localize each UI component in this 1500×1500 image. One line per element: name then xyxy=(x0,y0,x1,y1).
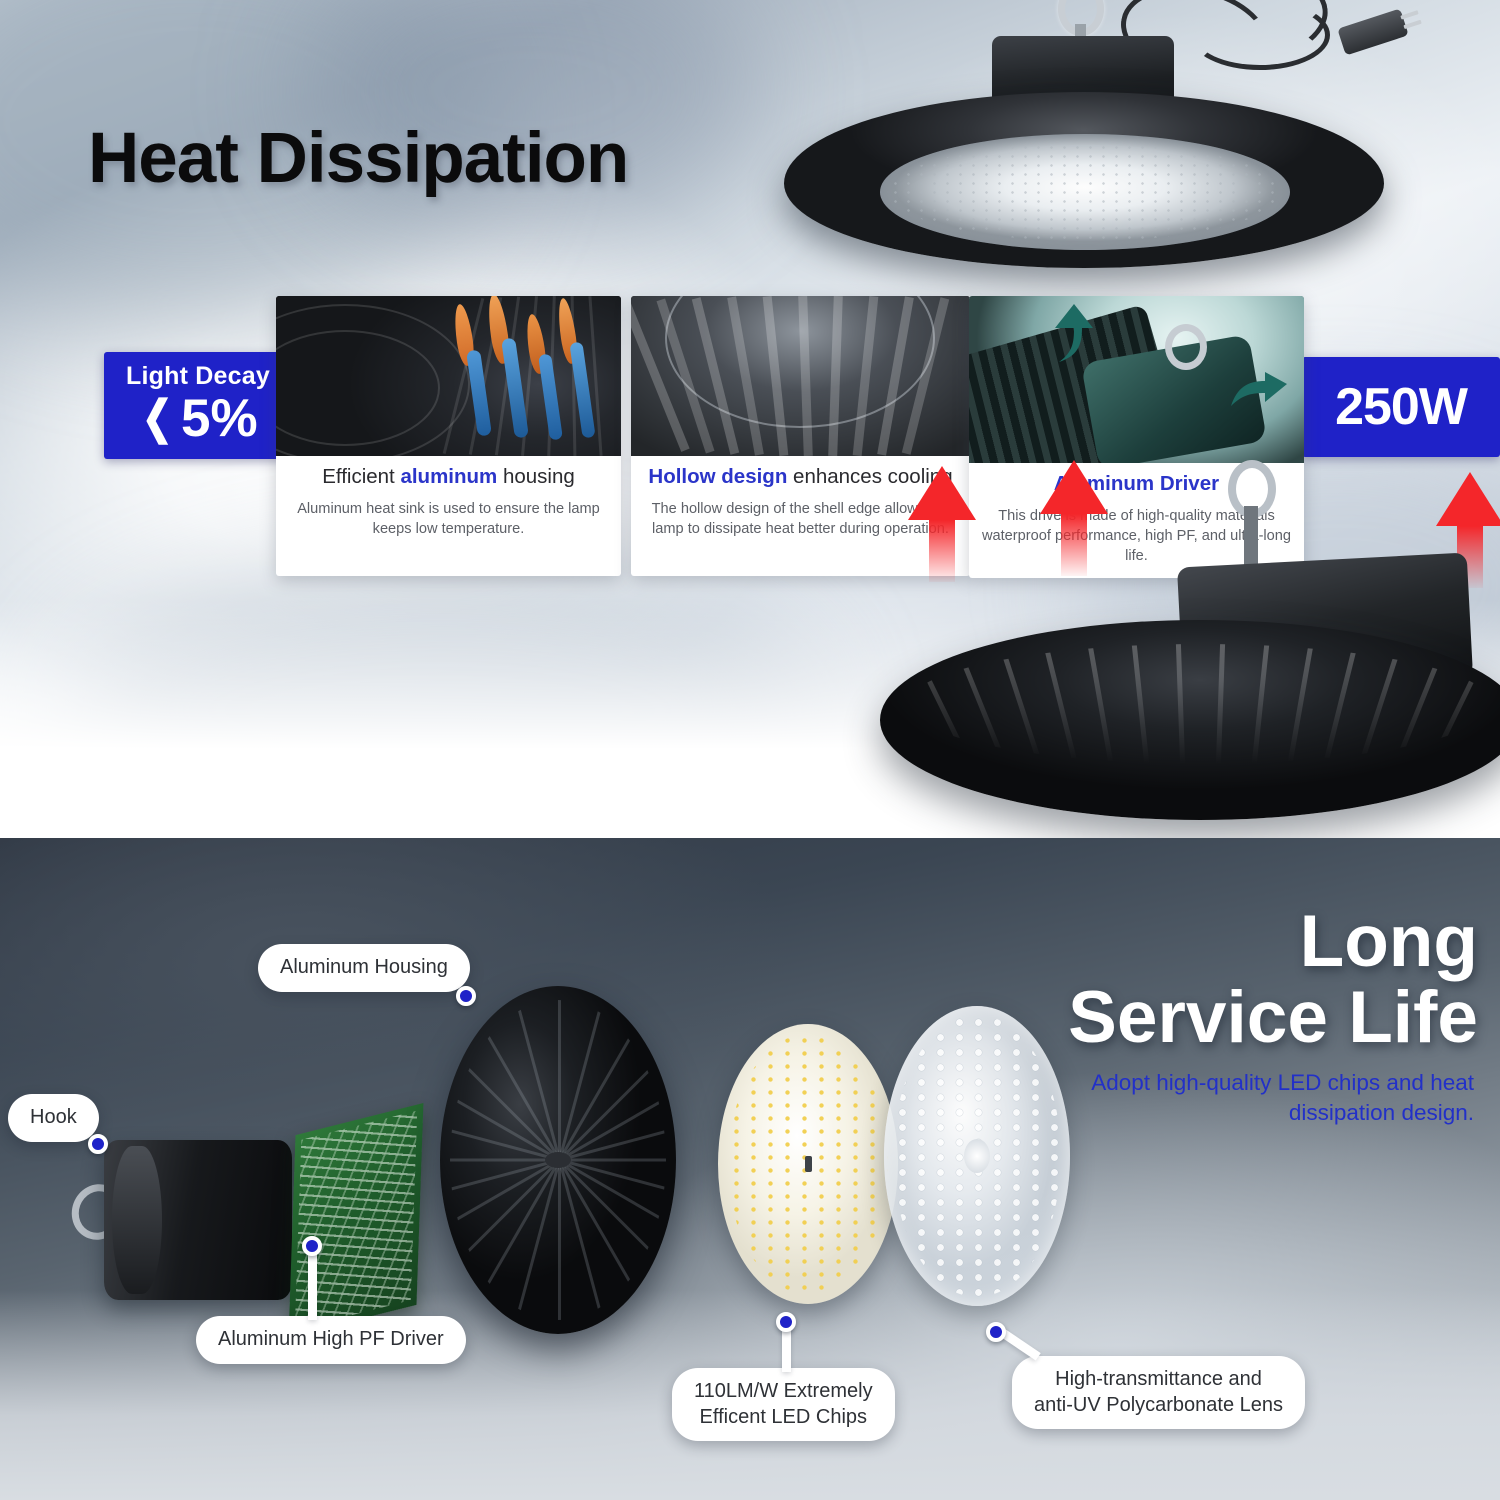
hero-highbay-light-image xyxy=(760,0,1400,294)
feature-card-image xyxy=(631,296,970,456)
callout-label: High-transmittance and anti-UV Polycarbo… xyxy=(1012,1356,1305,1429)
bottom-subtitle: Adopt high-quality LED chips and heat di… xyxy=(1004,1068,1474,1127)
callout-led-chips: 110LM/W Extremely Efficent LED Chips xyxy=(672,1368,895,1441)
led-chip-board-component xyxy=(718,1024,898,1304)
aluminum-housing-component xyxy=(440,986,676,1334)
callout-label: Aluminum Housing xyxy=(258,944,470,992)
feature-card-caption: Efficient aluminum housing Aluminum heat… xyxy=(276,456,621,576)
power-plug-icon xyxy=(1337,8,1408,55)
callout-label: Aluminum High PF Driver xyxy=(196,1316,466,1364)
hook-stem xyxy=(1244,506,1258,566)
callout-dot-icon xyxy=(456,986,476,1006)
callout-stem xyxy=(308,1246,317,1320)
heat-arrow-icon xyxy=(1040,460,1108,576)
callout-dot-icon xyxy=(88,1134,108,1154)
callout-aluminum-high-pf-driver: Aluminum High PF Driver xyxy=(196,1316,466,1364)
heatsink-fins xyxy=(908,644,1492,764)
airflow-arrow-icon xyxy=(1051,302,1097,364)
light-decay-value: ❮ 5% xyxy=(138,392,257,446)
heat-flow-product-image xyxy=(880,452,1500,838)
feature-card-body: Aluminum heat sink is used to ensure the… xyxy=(288,499,609,539)
driver-cap-component xyxy=(104,1140,292,1300)
product-infographic: Heat Dissipation Light Decay ❮ 5% 250W xyxy=(0,0,1500,1500)
less-than-chevron-icon: ❮ xyxy=(142,394,173,441)
feature-card-aluminum-housing: Efficient aluminum housing Aluminum heat… xyxy=(276,296,621,576)
power-cord xyxy=(1190,0,1330,70)
bottom-page-title: Long Service Life xyxy=(1008,906,1478,1053)
wattage-value: 250W xyxy=(1335,377,1467,437)
bottom-title-line2: Service Life xyxy=(1008,982,1478,1054)
bottom-title-line1: Long xyxy=(1008,906,1478,978)
callout-dot-icon xyxy=(776,1312,796,1332)
callout-dot-icon xyxy=(986,1322,1006,1342)
hook-ring-icon xyxy=(1165,324,1207,370)
page-title: Heat Dissipation xyxy=(88,118,628,199)
wattage-badge: 250W xyxy=(1302,357,1500,457)
feature-card-image xyxy=(969,296,1304,463)
callout-polycarbonate-lens: High-transmittance and anti-UV Polycarbo… xyxy=(1012,1356,1305,1429)
heat-arrow-icon xyxy=(908,466,976,582)
light-decay-number: 5% xyxy=(181,392,258,446)
callout-label: Hook xyxy=(8,1094,99,1142)
light-decay-label: Light Decay xyxy=(126,364,270,389)
light-decay-badge: Light Decay ❮ 5% xyxy=(104,352,292,459)
heatsink-fins xyxy=(631,296,970,456)
feature-card-image xyxy=(276,296,621,456)
callout-label: 110LM/W Extremely Efficent LED Chips xyxy=(672,1368,895,1441)
heat-dissipation-panel: Heat Dissipation Light Decay ❮ 5% 250W xyxy=(0,0,1500,838)
callout-aluminum-housing: Aluminum Housing xyxy=(258,944,470,992)
callout-hook: Hook xyxy=(8,1094,99,1142)
diffuser-lens xyxy=(880,134,1290,250)
feature-card-title: Efficient aluminum housing xyxy=(288,464,609,490)
airflow-arrow-icon xyxy=(1231,372,1291,420)
callout-dot-icon xyxy=(302,1236,322,1256)
